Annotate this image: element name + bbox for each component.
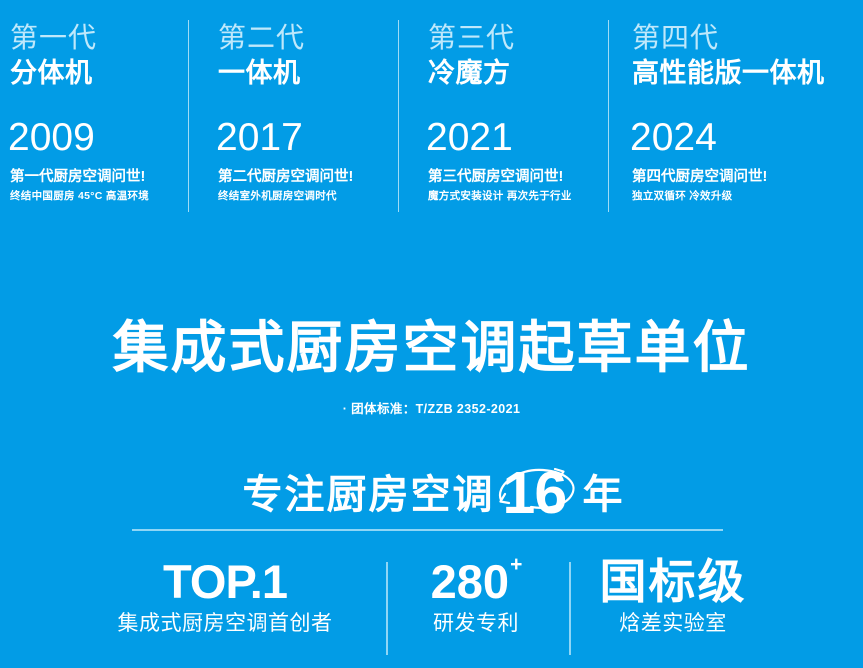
timeline-generation-label: 第四代 bbox=[632, 24, 719, 52]
stats-divider bbox=[386, 562, 388, 655]
timeline-detail: 独立双循环 冷效升级 bbox=[632, 191, 732, 202]
timeline-generation-label: 第三代 bbox=[428, 24, 515, 52]
timeline-year: 2024 bbox=[630, 118, 717, 157]
timeline-detail: 魔方式安装设计 再次先于行业 bbox=[428, 191, 572, 202]
timeline-generation-label: 第一代 bbox=[10, 24, 97, 52]
timeline-divider bbox=[188, 20, 189, 212]
timeline-headline: 第三代厨房空调问世! bbox=[428, 170, 563, 185]
years-prefix-label: 专注厨房空调 bbox=[243, 475, 495, 515]
generation-timeline: 第一代 分体机 2009 第一代厨房空调问世! 终结中国厨房 45°C 高温环境… bbox=[0, 0, 863, 222]
hero-title: 集成式厨房空调起草单位 bbox=[0, 320, 863, 376]
timeline-column-gen1: 第一代 分体机 2009 第一代厨房空调问世! 终结中国厨房 45°C 高温环境 bbox=[10, 0, 190, 222]
timeline-divider bbox=[398, 20, 399, 212]
timeline-generation-label: 第二代 bbox=[218, 24, 305, 52]
years-focus-row: 专注厨房空调 16 年 bbox=[0, 462, 863, 518]
timeline-column-gen3: 第三代 冷魔方 2021 第三代厨房空调问世! 魔方式安装设计 再次先于行业 bbox=[428, 0, 613, 222]
timeline-headline: 第二代厨房空调问世! bbox=[218, 170, 353, 185]
timeline-year: 2009 bbox=[8, 118, 95, 157]
stat-value: TOP.1 bbox=[100, 558, 350, 605]
stat-item-patents: 280+ 研发专利 bbox=[396, 545, 556, 634]
stat-label: 集成式厨房空调首创者 bbox=[100, 613, 350, 634]
timeline-product-name: 分体机 bbox=[10, 60, 93, 87]
years-number: 16 bbox=[503, 464, 567, 523]
stats-divider bbox=[569, 562, 571, 655]
stat-item-top1: TOP.1 集成式厨房空调首创者 bbox=[100, 545, 350, 634]
stat-item-lab: 国标级 焓差实验室 bbox=[578, 545, 768, 634]
hero-standard-code: · 团体标准：T/ZZB 2352-2021 bbox=[0, 403, 863, 416]
stat-value-text: 280 bbox=[431, 555, 509, 608]
timeline-column-gen4: 第四代 高性能版一体机 2024 第四代厨房空调问世! 独立双循环 冷效升级 bbox=[632, 0, 857, 222]
stat-value-text: TOP.1 bbox=[163, 555, 287, 608]
section-divider bbox=[132, 529, 723, 531]
stat-label: 研发专利 bbox=[396, 613, 556, 634]
years-number-group: 16 bbox=[495, 462, 581, 518]
stat-value: 国标级 bbox=[578, 558, 768, 605]
timeline-detail: 终结中国厨房 45°C 高温环境 bbox=[10, 191, 149, 202]
stat-label: 焓差实验室 bbox=[578, 613, 768, 634]
timeline-product-name: 高性能版一体机 bbox=[632, 60, 825, 87]
stat-value: 280+ bbox=[396, 558, 556, 605]
timeline-product-name: 一体机 bbox=[218, 60, 301, 87]
timeline-year: 2017 bbox=[216, 118, 303, 157]
years-suffix-label: 年 bbox=[583, 475, 623, 515]
timeline-headline: 第一代厨房空调问世! bbox=[10, 170, 145, 185]
timeline-headline: 第四代厨房空调问世! bbox=[632, 170, 767, 185]
timeline-product-name: 冷魔方 bbox=[428, 60, 511, 87]
stat-value-text: 国标级 bbox=[600, 555, 747, 608]
stats-row: TOP.1 集成式厨房空调首创者 280+ 研发专利 国标级 焓差实验室 bbox=[0, 545, 863, 668]
infographic-poster: 第一代 分体机 2009 第一代厨房空调问世! 终结中国厨房 45°C 高温环境… bbox=[0, 0, 863, 668]
stat-superscript: + bbox=[510, 553, 522, 576]
timeline-detail: 终结室外机厨房空调时代 bbox=[218, 191, 337, 202]
timeline-divider bbox=[608, 20, 609, 212]
timeline-year: 2021 bbox=[426, 118, 513, 157]
timeline-column-gen2: 第二代 一体机 2017 第二代厨房空调问世! 终结室外机厨房空调时代 bbox=[218, 0, 403, 222]
